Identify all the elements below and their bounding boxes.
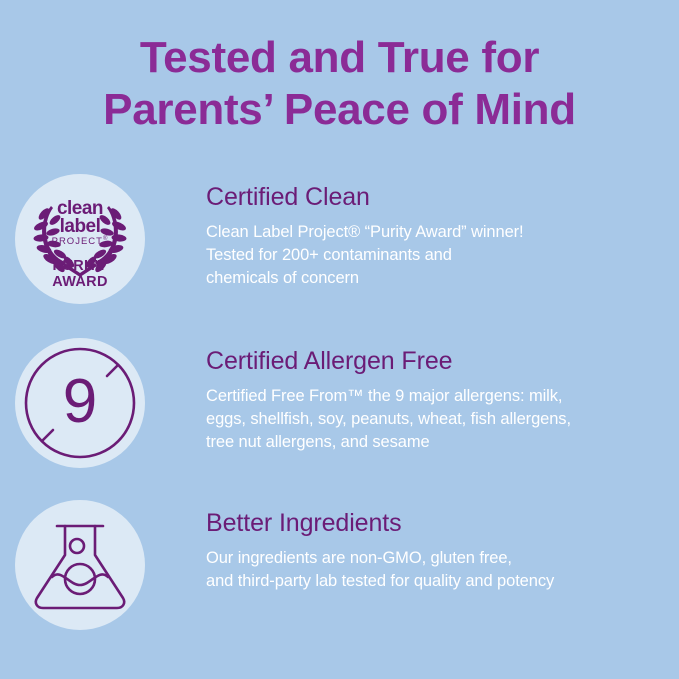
badge-award-text: PURITY AWARD bbox=[15, 258, 145, 290]
feature-body-better-ingredients: Our ingredients are non-GMO, gluten free… bbox=[206, 547, 676, 593]
laboratory-flask-icon bbox=[15, 500, 145, 630]
body-line: and third-party lab tested for quality a… bbox=[206, 572, 554, 590]
marketing-infographic-page: Tested and True for Parents’ Peace of Mi… bbox=[0, 0, 679, 679]
body-line: eggs, shellfish, soy, peanuts, wheat, fi… bbox=[206, 410, 571, 428]
nine-digit: 9 bbox=[63, 367, 97, 436]
body-line: Certified Free From™ the 9 major allerge… bbox=[206, 387, 562, 405]
allergen-count-number: 9 bbox=[15, 371, 145, 433]
feature-title-certified-allergen-free: Certified Allergen Free bbox=[206, 346, 679, 376]
page-title-line-1: Tested and True for bbox=[0, 32, 679, 84]
badge-award-line-1: PURITY bbox=[15, 258, 145, 274]
feature-icon-container bbox=[0, 500, 150, 630]
feature-row-certified-allergen-free: 9 Certified Allergen Free Certified Free… bbox=[0, 338, 679, 468]
feature-text-container: Certified Allergen Free Certified Free F… bbox=[150, 338, 679, 454]
badge-award-line-2: AWARD bbox=[15, 274, 145, 290]
feature-text-container: Better Ingredients Our ingredients are n… bbox=[150, 500, 679, 593]
nine-allergen-circle-icon: 9 bbox=[15, 338, 145, 468]
feature-body-certified-allergen-free: Certified Free From™ the 9 major allerge… bbox=[206, 385, 676, 454]
badge-word-label: label bbox=[15, 218, 145, 236]
page-title: Tested and True for Parents’ Peace of Mi… bbox=[0, 32, 679, 136]
badge-word-project: PROJECT® bbox=[15, 236, 145, 247]
body-line: tree nut allergens, and sesame bbox=[206, 433, 430, 451]
feature-icon-container: clean label PROJECT® PURITY AWARD bbox=[0, 174, 150, 304]
feature-row-better-ingredients: Better Ingredients Our ingredients are n… bbox=[0, 500, 679, 630]
badge-brand-text: clean label PROJECT® bbox=[15, 200, 145, 247]
body-line: Clean Label Project® “Purity Award” winn… bbox=[206, 223, 524, 241]
feature-title-better-ingredients: Better Ingredients bbox=[206, 508, 679, 538]
body-line: Our ingredients are non-GMO, gluten free… bbox=[206, 549, 512, 567]
page-title-line-2: Parents’ Peace of Mind bbox=[0, 84, 679, 136]
body-line: chemicals of concern bbox=[206, 269, 359, 287]
feature-text-container: Certified Clean Clean Label Project® “Pu… bbox=[150, 174, 679, 290]
erlenmeyer-flask-icon bbox=[21, 506, 139, 624]
feature-icon-container: 9 bbox=[0, 338, 150, 468]
feature-row-certified-clean: clean label PROJECT® PURITY AWARD Certif… bbox=[0, 174, 679, 304]
body-line: Tested for 200+ contaminants and bbox=[206, 246, 452, 264]
feature-title-certified-clean: Certified Clean bbox=[206, 182, 679, 212]
clean-label-project-badge-icon: clean label PROJECT® PURITY AWARD bbox=[15, 174, 145, 304]
feature-body-certified-clean: Clean Label Project® “Purity Award” winn… bbox=[206, 221, 676, 290]
